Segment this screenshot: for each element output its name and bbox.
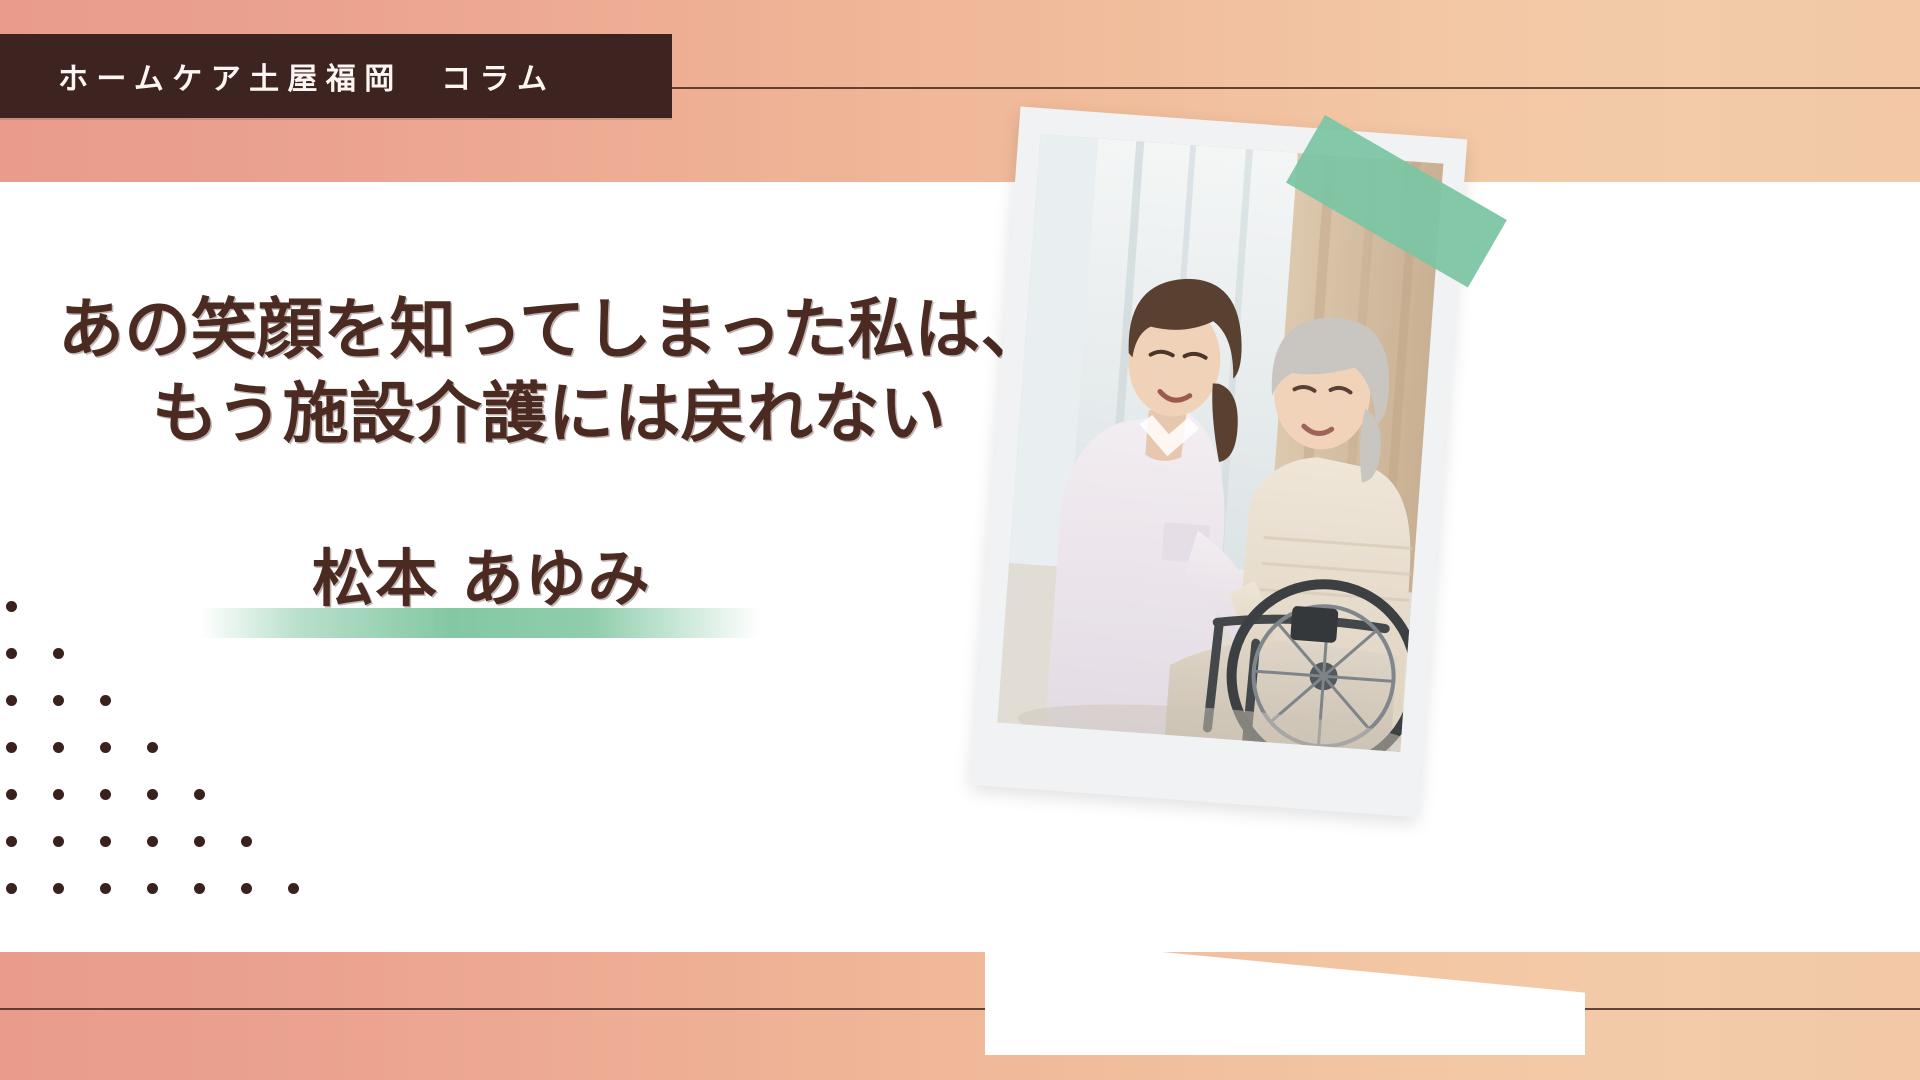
top-horizontal-rule: [668, 87, 1920, 89]
wheelchair-brake: [1290, 606, 1338, 643]
decor-dot: [53, 695, 64, 706]
decor-dot: [6, 601, 17, 612]
decor-dot: [147, 883, 158, 894]
decor-dot: [6, 789, 17, 800]
decor-dot: [53, 742, 64, 753]
decor-dot: [6, 695, 17, 706]
headline-line-1: あの笑顔を知ってしまった私は、: [58, 288, 988, 372]
decor-dot: [147, 836, 158, 847]
decor-dot: [147, 742, 158, 753]
decor-dot: [6, 742, 17, 753]
decor-dot: [53, 789, 64, 800]
decor-dot: [100, 789, 111, 800]
decor-dot: [194, 789, 205, 800]
decor-dot: [241, 883, 252, 894]
decor-dot: [147, 789, 158, 800]
column-series-chip: ホームケア土屋福岡 コラム: [0, 34, 672, 118]
author-name: 松本 あゆみ: [312, 528, 651, 618]
decor-dot: [6, 648, 17, 659]
decor-dot: [100, 742, 111, 753]
decor-dot: [53, 836, 64, 847]
decor-dot: [100, 836, 111, 847]
decor-dot: [194, 883, 205, 894]
dot-triangle-decoration: [0, 595, 320, 995]
decor-dot: [194, 836, 205, 847]
decor-dot: [100, 883, 111, 894]
decor-dot: [288, 883, 299, 894]
bottom-horizontal-rule: [0, 1008, 1920, 1010]
column-series-label: ホームケア土屋福岡 コラム: [0, 54, 555, 98]
decor-dot: [100, 695, 111, 706]
decor-dot: [53, 883, 64, 894]
decor-dot: [241, 836, 252, 847]
headline-line-2: もう施設介護には戻れない: [58, 372, 988, 456]
author-block: 松本 あゆみ: [200, 528, 760, 638]
decor-dot: [53, 648, 64, 659]
decor-dot: [6, 836, 17, 847]
decor-dot: [6, 883, 17, 894]
headline-block: あの笑顔を知ってしまった私は、 もう施設介護には戻れない: [58, 288, 988, 457]
poster-canvas: ホームケア土屋福岡 コラム あの笑顔を知ってしまった私は、 もう施設介護には戻れ…: [0, 0, 1920, 1080]
